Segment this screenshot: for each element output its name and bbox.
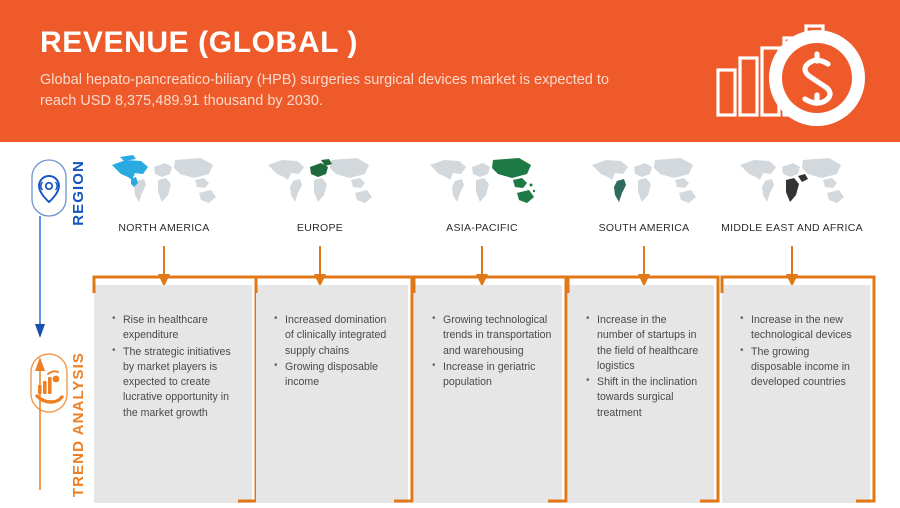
- connector-arrow-asia-pacific: [472, 246, 492, 288]
- list-item: Rise in healthcare expenditure: [114, 313, 242, 344]
- trend-bullet-list-asia-pacific: Growing technological trends in transpor…: [414, 285, 562, 390]
- world-map-north-america-highlighted: [106, 152, 222, 214]
- list-item: Increase in the number of startups in th…: [588, 313, 704, 374]
- location-pin-icon: [28, 158, 70, 218]
- trend-box-middle-east-africa: Increase in the new technological device…: [722, 285, 870, 503]
- world-map-asia-pacific-highlighted: [424, 152, 540, 214]
- region-label-middle-east-africa: MIDDLE EAST AND AFRICA: [712, 222, 872, 234]
- region-label-europe: EUROPE: [240, 222, 400, 234]
- list-item: Growing disposable income: [276, 360, 398, 391]
- page-title: REVENUE (GLOBAL ): [40, 26, 358, 60]
- trend-bullet-list-south-america: Increase in the number of startups in th…: [568, 285, 714, 421]
- header-banner: REVENUE (GLOBAL ) Global hepato-pancreat…: [0, 0, 900, 142]
- region-label-south-america: SOUTH AMERICA: [564, 222, 724, 234]
- region-label-north-america: NORTH AMERICA: [84, 222, 244, 234]
- trend-bullet-list-north-america: Rise in healthcare expenditure The strat…: [94, 285, 252, 421]
- world-map-south-america-highlighted: [586, 152, 702, 214]
- infographic-page: REVENUE (GLOBAL ) Global hepato-pancreat…: [0, 0, 900, 506]
- connector-arrow-middle-east-africa: [782, 246, 802, 288]
- list-item: Increase in the new technological device…: [742, 313, 860, 344]
- trend-box-asia-pacific: Growing technological trends in transpor…: [414, 285, 562, 503]
- header-subtitle: Global hepato-pancreatico-biliary (HPB) …: [40, 70, 640, 112]
- world-map-middle-east-africa-highlighted: [734, 152, 850, 214]
- region-column-middle-east-africa: MIDDLE EAST AND AFRICA: [712, 152, 872, 234]
- trend-analysis-axis-label: TREND ANALYSIS: [70, 352, 87, 497]
- trend-bullet-list-middle-east-africa: Increase in the new technological device…: [722, 285, 870, 390]
- list-item: Growing technological trends in transpor…: [434, 313, 552, 359]
- list-item: The strategic initiatives by market play…: [114, 345, 242, 421]
- revenue-bar-chart-dollar-icon: [700, 10, 885, 135]
- region-column-south-america: SOUTH AMERICA: [564, 152, 724, 234]
- list-item: The growing disposable income in develop…: [742, 345, 860, 391]
- trend-bullet-list-europe: Increased domination of clinically integ…: [256, 285, 408, 390]
- trend-box-europe: Increased domination of clinically integ…: [256, 285, 408, 503]
- trend-box-north-america: Rise in healthcare expenditure The strat…: [94, 285, 252, 503]
- list-item: Increased domination of clinically integ…: [276, 313, 398, 359]
- region-column-asia-pacific: ASIA-PACIFIC: [402, 152, 562, 234]
- connector-arrow-europe: [310, 246, 330, 288]
- list-item: Increase in geriatric population: [434, 360, 552, 391]
- region-down-arrow: [34, 216, 64, 341]
- connector-arrow-north-america: [154, 246, 174, 288]
- trend-box-south-america: Increase in the number of startups in th…: [568, 285, 714, 503]
- trend-up-arrow: [34, 355, 64, 490]
- region-column-europe: EUROPE: [240, 152, 400, 234]
- world-map-europe-highlighted: [262, 152, 378, 214]
- region-column-north-america: NORTH AMERICA: [84, 152, 244, 234]
- list-item: Shift in the inclination towards surgica…: [588, 375, 704, 421]
- region-label-asia-pacific: ASIA-PACIFIC: [402, 222, 562, 234]
- connector-arrow-south-america: [634, 246, 654, 288]
